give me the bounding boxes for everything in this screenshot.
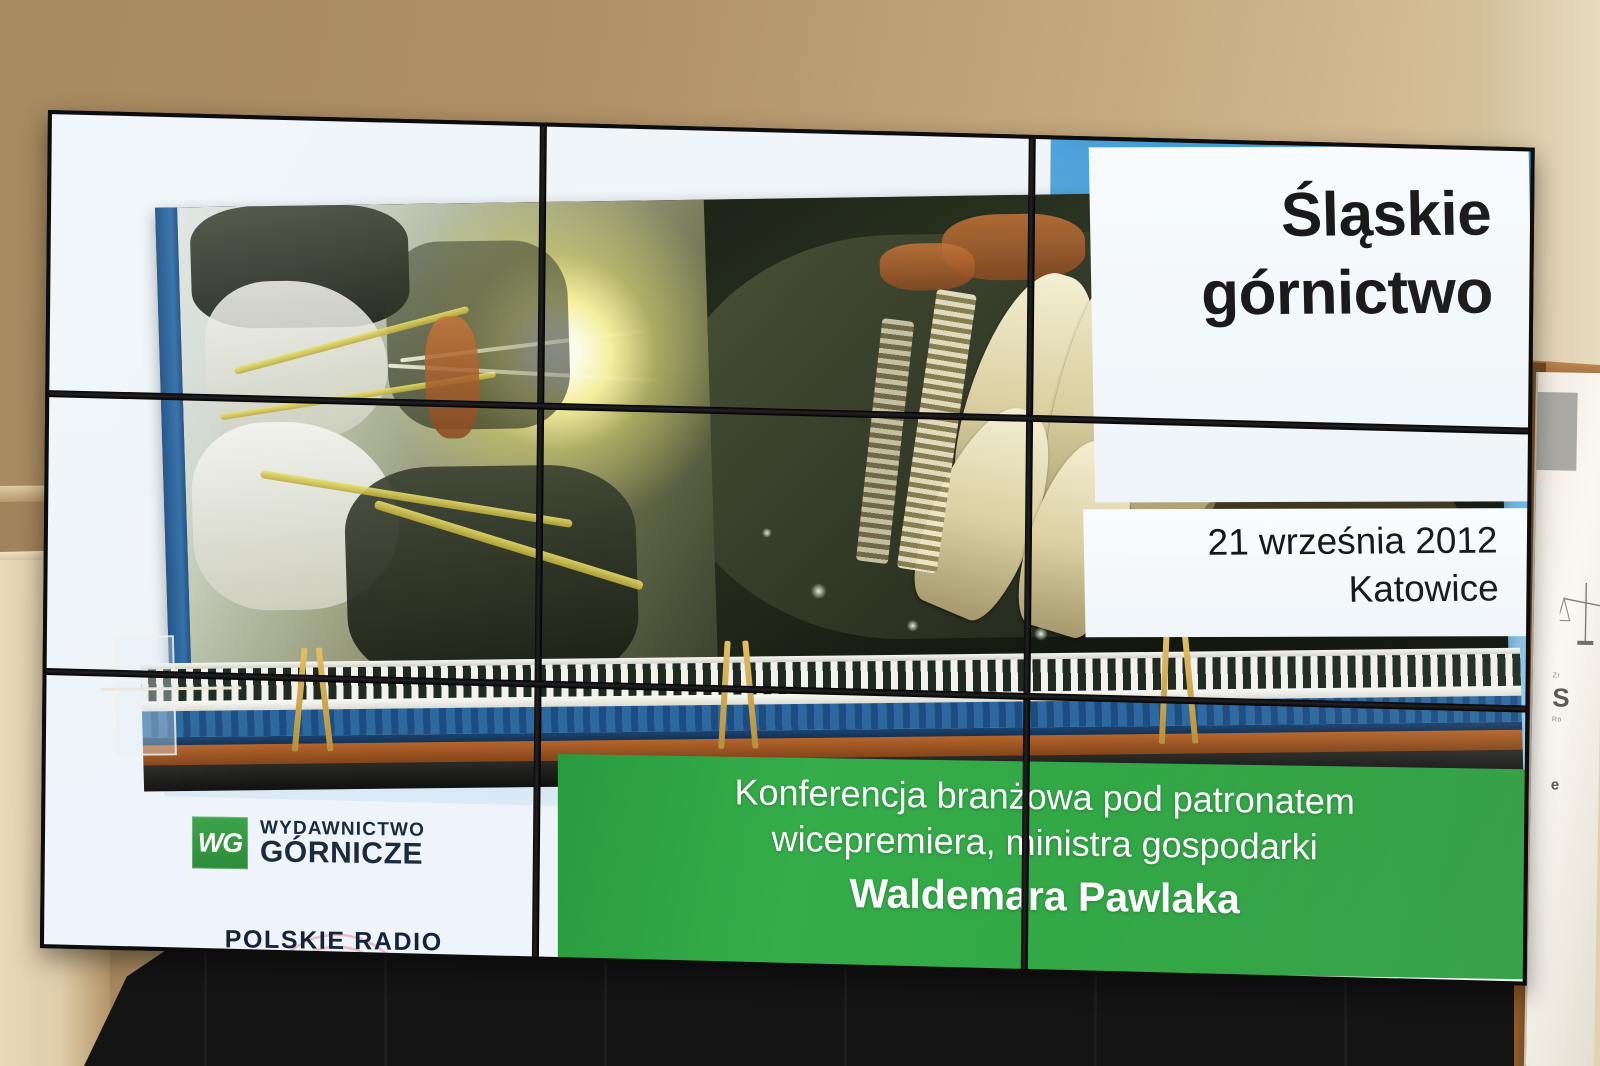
poster-board: Zr S Ro e [1524, 372, 1600, 1066]
mine-roadway-scene [177, 198, 797, 677]
poster-label-small-bottom: Ro [1552, 716, 1562, 723]
poster-label-small-top: Zr [1553, 672, 1561, 679]
wg-logo-line2: GÓRNICZE [260, 838, 425, 871]
poster-scales-graphic [1559, 580, 1600, 671]
billboard-left-guardrail [114, 635, 177, 756]
slide-title: Śląskie górnictwo [1110, 176, 1493, 333]
screenshot-root: Zr S Ro e [0, 0, 1600, 1066]
video-wall[interactable]: Śląskie górnictwo 21 września 2012 Katow… [40, 110, 1535, 986]
poster-grey-block [1536, 392, 1577, 471]
banner-line-2: wicepremiera, ministra gospodarki [772, 818, 1318, 868]
wg-monogram-icon: WG [192, 816, 248, 869]
poster-label-big: S [1552, 682, 1570, 713]
logo-wydawnictwo-gornicze: WG WYDAWNICTWO GÓRNICZE [192, 810, 492, 878]
presentation-slide: Śląskie górnictwo 21 września 2012 Katow… [43, 113, 1532, 982]
green-banner-text: Konferencja branżowa pod patronatem wice… [605, 767, 1485, 929]
slide-city: Katowice [1098, 565, 1499, 616]
banner-line-1: Konferencja branżowa pod patronatem [734, 771, 1354, 822]
poster-label-bottom: e [1551, 776, 1560, 793]
slide-title-line2: górnictwo [1112, 253, 1494, 333]
slide-title-line1: Śląskie [1110, 176, 1492, 256]
slide-date-block: 21 września 2012 Katowice [1097, 516, 1499, 615]
video-wall-display-area: Śląskie górnictwo 21 września 2012 Katow… [43, 113, 1532, 982]
wg-logo-wordmark: WYDAWNICTWO GÓRNICZE [260, 818, 425, 870]
slide-date: 21 września 2012 [1097, 516, 1498, 567]
